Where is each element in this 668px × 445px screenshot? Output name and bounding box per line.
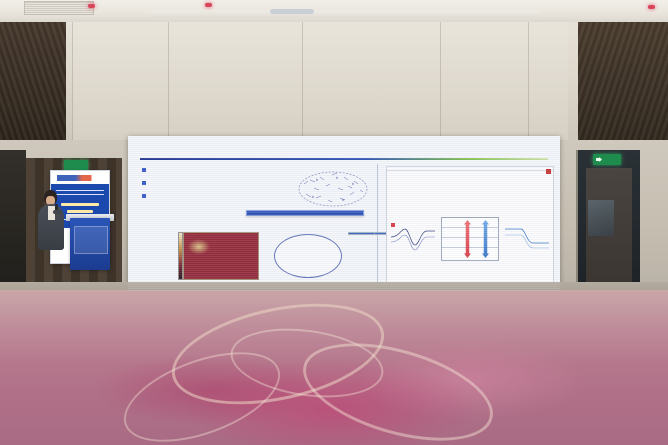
screenshot-root: bbb bb [0,0,668,445]
slide-bullet-1 [142,168,150,172]
exit-sign-icon [593,154,621,165]
band-diagram-left-icon [389,217,437,251]
svg-text:b: b [312,195,314,199]
column-divider [377,164,378,284]
ceiling-vent [24,1,94,15]
stack-layer-gan [442,228,498,238]
journal-red-mark [546,169,551,174]
title-underline [140,158,548,160]
slide-bullet-2 [142,181,150,185]
afm-surface-image [183,232,259,280]
left-doorway [0,150,26,298]
th-color [374,233,386,235]
paper-screenshot [386,166,554,286]
paper-authors-dates [387,173,553,177]
slide-bullet-3 [142,194,150,198]
ceiling-alarm-light [648,5,655,9]
layer-stack-diagram [441,217,499,261]
banner-text-line [56,194,104,195]
bullet-square-icon [142,181,146,185]
wall-panel [168,22,568,140]
stack-layer-ganc [442,238,498,248]
banner-logo-row [57,175,103,181]
exit-sign-left-icon [64,160,88,170]
podium [70,218,110,270]
carpet [0,290,668,445]
ceiling-light-strip [150,10,540,17]
ceiling-alarm-light [88,4,95,8]
wall-panel [72,22,168,140]
banner-text-line [56,190,104,191]
ceiling-alarm-light [205,3,212,7]
wall-seam [528,22,529,140]
bow-uniformity-callout [246,210,364,216]
speaker-arm [53,210,62,214]
banner-headline [67,210,93,213]
wafer-defect-map [274,234,342,278]
wood-panel-right [578,22,668,140]
th-defect [349,233,375,235]
bullet-square-icon [142,194,146,198]
banner-headline [61,203,99,206]
wall-seam [72,22,73,140]
podium-plaque [74,226,108,254]
band-diagram-right-icon [503,217,551,251]
presentation-slide: bbb bb [128,136,560,292]
bullet-square-icon [142,168,146,172]
wall-seam [302,22,303,140]
wall-seam [440,22,441,140]
wall-seam [168,22,169,140]
stack-layer-algan [442,218,498,228]
ceiling-blue-panel [270,9,314,14]
svg-text:b: b [336,176,338,180]
projection-screen: bbb bb [128,136,560,292]
defect-scatter-sketch: bbb bb [290,168,376,210]
svg-text:b: b [352,182,354,186]
svg-text:b: b [316,178,318,182]
door-glass-panel [588,200,614,236]
svg-text:b: b [342,198,344,202]
wood-panel-left [0,22,66,140]
